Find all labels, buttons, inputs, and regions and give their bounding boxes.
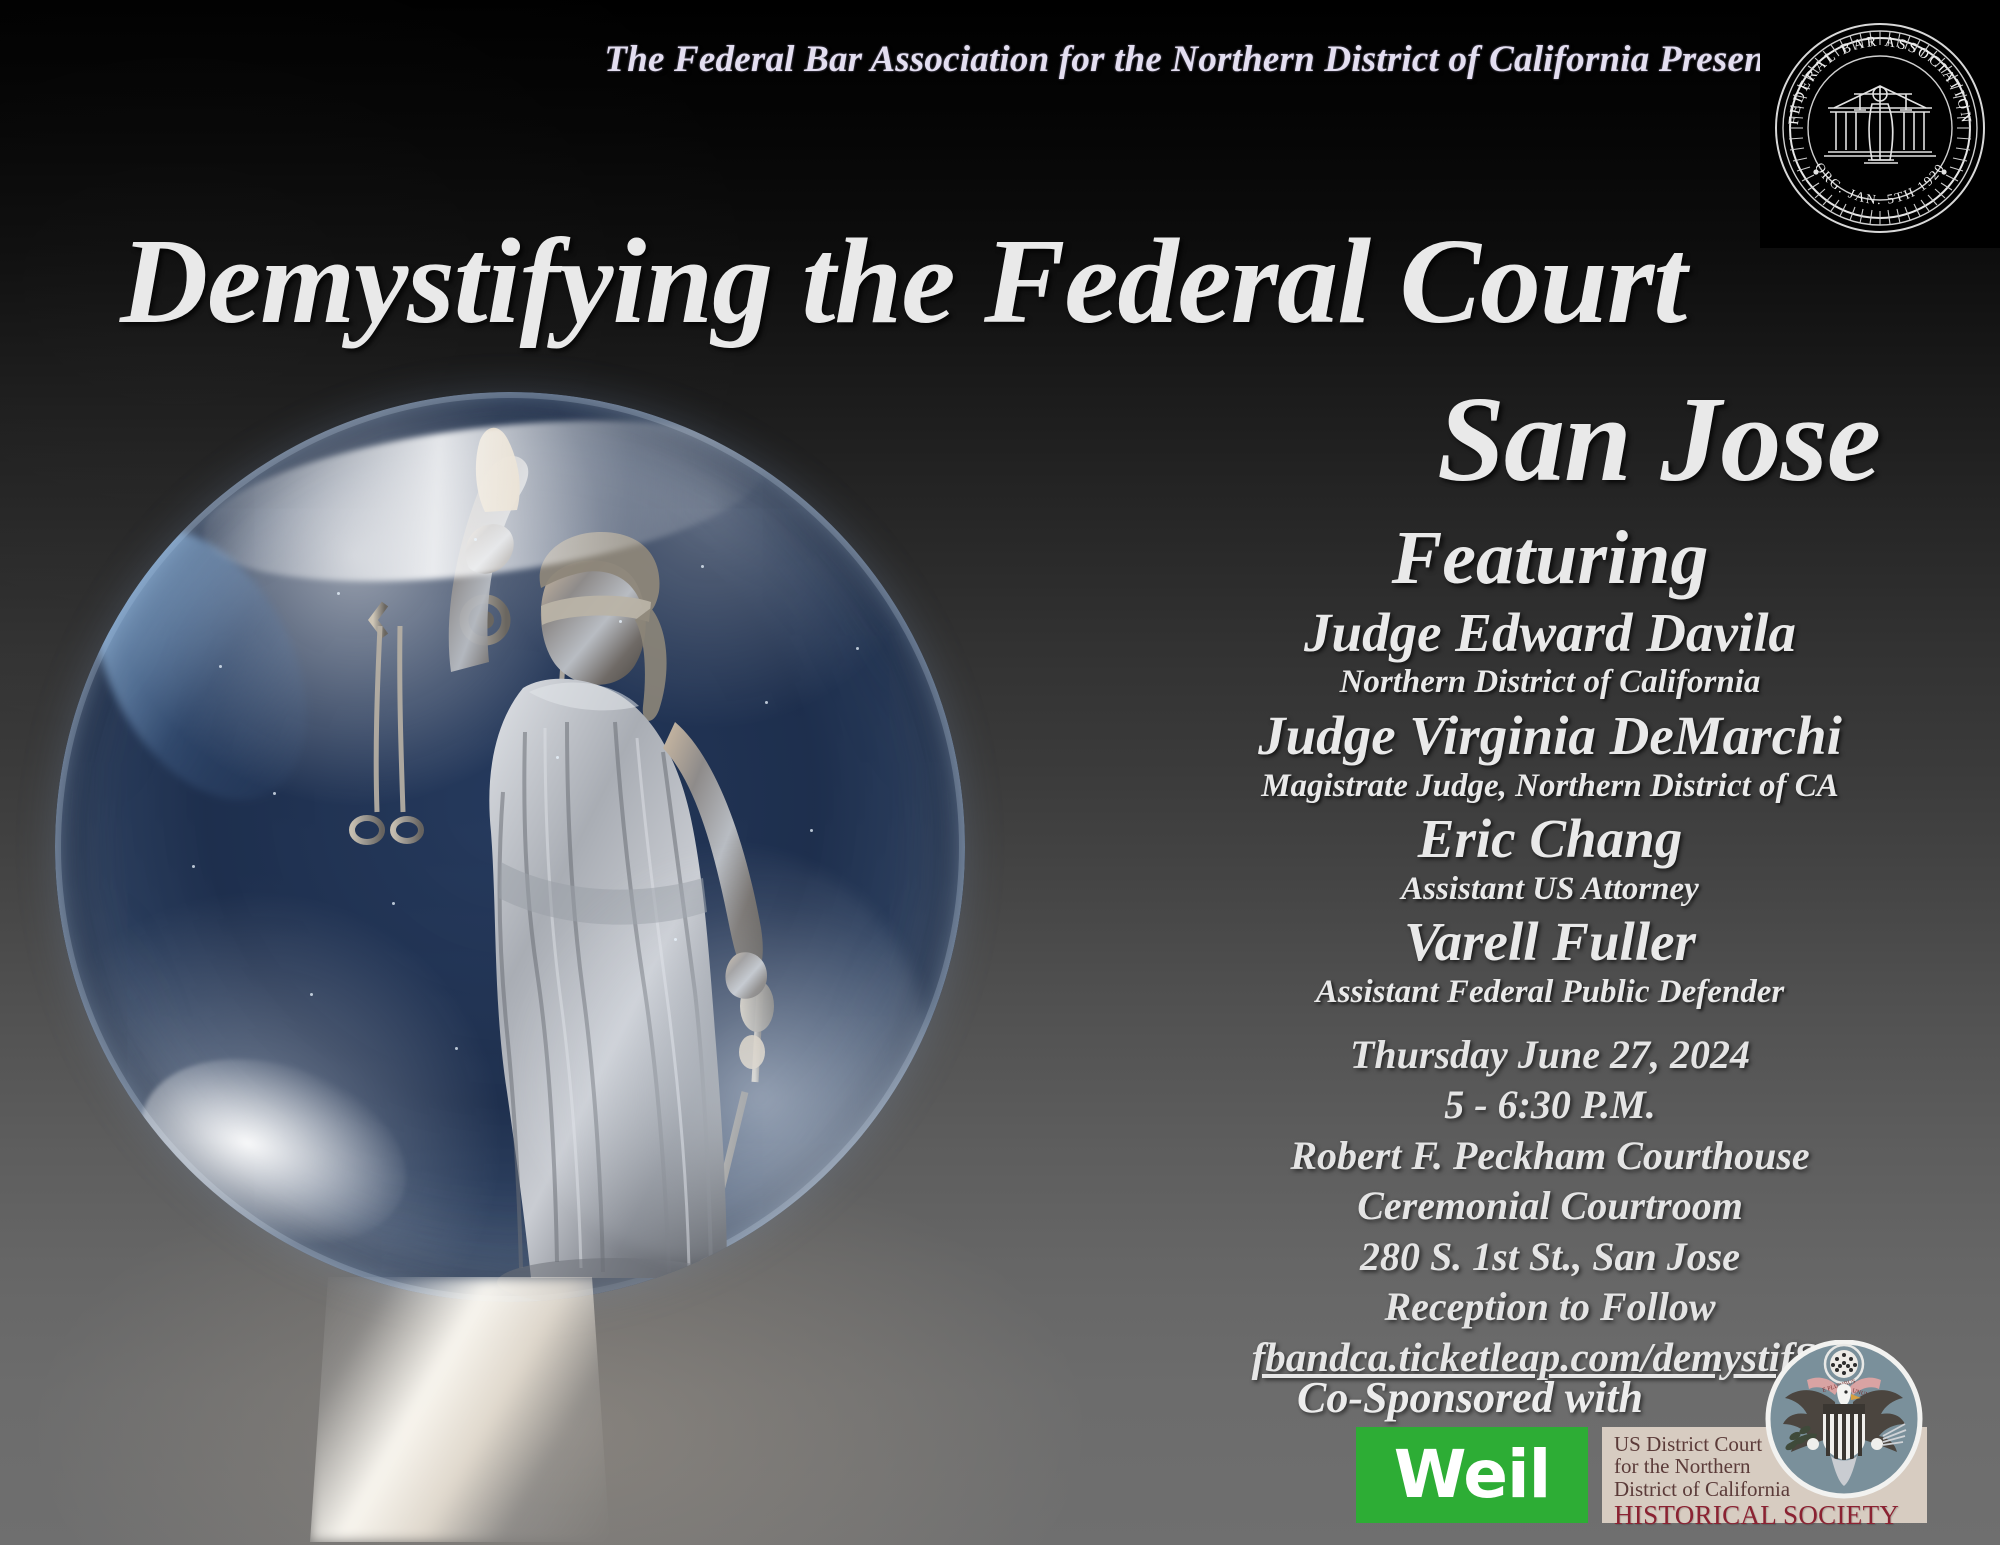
speaker-name: Eric Chang [1100, 810, 2000, 869]
crystal-ball-lady-justice-image [55, 392, 965, 1545]
ball-specks [55, 392, 965, 1302]
event-poster: The Federal Bar Association for the Nort… [0, 0, 2000, 1545]
featuring-heading: Featuring [1100, 520, 2000, 598]
poster-title: Demystifying the Federal Court San Jose [120, 222, 1880, 499]
speaker-role: Northern District of California [1100, 664, 2000, 700]
event-venue: Robert F. Peckham Courthouse [1100, 1131, 2000, 1181]
event-details: Thursday June 27, 2024 5 - 6:30 P.M. Rob… [1100, 1030, 2000, 1382]
speaker-role: Assistant US Attorney [1100, 871, 2000, 907]
speaker-role: Assistant Federal Public Defender [1100, 974, 2000, 1010]
weil-logo: Weil [1356, 1427, 1588, 1523]
crystal-ball [55, 392, 965, 1302]
speaker-name: Varell Fuller [1100, 913, 2000, 972]
title-line-2: San Jose [120, 380, 1880, 500]
svg-text:ORG. JAN. 5TH 1920: ORG. JAN. 5TH 1920 [1812, 160, 1948, 207]
event-time: 5 - 6:30 P.M. [1100, 1080, 2000, 1130]
event-room: Ceremonial Courtroom [1100, 1181, 2000, 1231]
us-district-court-eagle-seal-icon: E PLURIBUS UNUM [1765, 1340, 1923, 1515]
speaker-name: Judge Edward Davila [1100, 604, 2000, 663]
co-sponsored-heading: Co-Sponsored with [1100, 1372, 1840, 1423]
featuring-section: Featuring Judge Edward Davila Northern D… [1100, 520, 2000, 1010]
weil-logo-text: Weil [1394, 1442, 1550, 1508]
crystal-ball-pedestal [240, 1272, 760, 1545]
presenter-header: The Federal Bar Association for the Nort… [0, 38, 1790, 81]
speaker-role: Magistrate Judge, Northern District of C… [1100, 768, 2000, 804]
event-reception-note: Reception to Follow [1100, 1282, 2000, 1332]
event-date: Thursday June 27, 2024 [1100, 1030, 2000, 1080]
event-address: 280 S. 1st St., San Jose [1100, 1232, 2000, 1282]
federal-bar-association-seal-icon: FEDERAL BAR ASSOCIATION ORG. JAN. 5TH 19… [1760, 8, 2000, 248]
speaker-name: Judge Virginia DeMarchi [1100, 707, 2000, 766]
title-line-1: Demystifying the Federal Court [120, 222, 1880, 342]
